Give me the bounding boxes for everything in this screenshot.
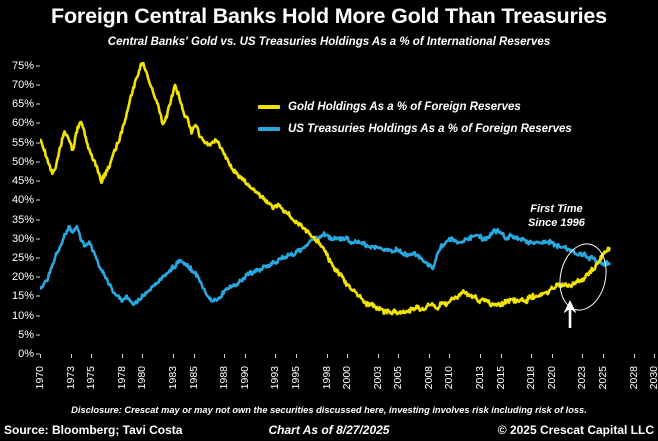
x-axis-tick-mark — [398, 354, 399, 358]
x-axis-tick-mark — [449, 354, 450, 358]
x-axis-tick-label: 2013 — [474, 366, 486, 389]
y-axis-tick-label: 20% — [12, 271, 34, 283]
x-axis-tick-label: 1978 — [116, 366, 128, 389]
y-axis: 0%5%10%15%20%25%30%35%40%45%50%55%60%65%… — [0, 62, 40, 354]
x-axis-tick-label: 1985 — [188, 366, 200, 389]
annotation-text: First Time Since 1996 — [528, 202, 585, 230]
x-axis-tick-label: 1990 — [239, 366, 251, 389]
y-axis-tick-label: 40% — [12, 194, 34, 206]
y-axis-tick-label: 50% — [12, 156, 34, 168]
x-axis-tick-mark — [122, 354, 123, 358]
chart-legend: Gold Holdings As a % of Foreign Reserves… — [258, 96, 618, 140]
copyright-text: © 2025 Crescat Capital LLC — [498, 423, 654, 437]
x-axis-tick-label: 2020 — [546, 366, 558, 389]
treasuries-swatch-icon — [258, 127, 280, 131]
disclosure-text: Disclosure: Crescat may or may not own t… — [0, 405, 658, 415]
chart-container: Foreign Central Banks Hold More Gold Tha… — [0, 0, 658, 441]
x-axis-tick-mark — [194, 354, 195, 358]
y-axis-tick-label: 15% — [12, 290, 34, 302]
y-axis-tick-label: 10% — [12, 310, 34, 322]
x-axis-tick-label: 1998 — [321, 366, 333, 389]
x-axis-tick-label: 2005 — [392, 366, 404, 389]
annotation-line-1: First Time — [528, 202, 585, 216]
x-axis-tick-mark — [603, 354, 604, 358]
x-axis-tick-label: 2015 — [495, 366, 507, 389]
y-axis-tick-label: 70% — [12, 79, 34, 91]
annotation-up-arrow-icon — [562, 300, 578, 328]
x-axis-tick-label: 2028 — [628, 366, 640, 389]
legend-label-gold: Gold Holdings As a % of Foreign Reserves — [288, 101, 521, 113]
y-axis-tick-label: 0% — [18, 348, 34, 360]
x-axis-tick-mark — [224, 354, 225, 358]
chart-subtitle: Central Banks' Gold vs. US Treasuries Ho… — [0, 36, 658, 48]
x-axis-tick-mark — [582, 354, 583, 358]
footer: Source: Bloomberg; Tavi Costa Chart As o… — [0, 423, 658, 441]
x-axis-tick-mark — [71, 354, 72, 358]
x-axis-tick-mark — [634, 354, 635, 358]
x-axis-tick-mark — [429, 354, 430, 358]
x-axis-tick-mark — [480, 354, 481, 358]
x-axis-tick-label: 1988 — [218, 366, 230, 389]
y-axis-tick-label: 5% — [18, 329, 34, 341]
x-axis-tick-label: 2000 — [341, 366, 353, 389]
x-axis-tick-label: 1980 — [136, 366, 148, 389]
x-axis-tick-mark — [245, 354, 246, 358]
annotation-line-2: Since 1996 — [528, 216, 585, 230]
x-axis-tick-mark — [142, 354, 143, 358]
x-axis-tick-label: 1973 — [65, 366, 77, 389]
x-axis-tick-mark — [654, 354, 655, 358]
y-axis-tick-label: 65% — [12, 98, 34, 110]
page-title: Foreign Central Banks Hold More Gold Tha… — [0, 4, 658, 29]
x-axis-tick-label: 2010 — [443, 366, 455, 389]
x-axis-tick-label: 2018 — [525, 366, 537, 389]
y-axis-tick-label: 30% — [12, 233, 34, 245]
x-axis-tick-label: 1970 — [34, 366, 46, 389]
x-axis-tick-mark — [275, 354, 276, 358]
x-axis: 1970197319751978198019831985198819901993… — [40, 354, 654, 400]
y-axis-tick-label: 55% — [12, 137, 34, 149]
y-axis-tick-label: 60% — [12, 117, 34, 129]
legend-item-gold: Gold Holdings As a % of Foreign Reserves — [258, 96, 618, 118]
x-axis-tick-mark — [327, 354, 328, 358]
gold-swatch-icon — [258, 105, 280, 109]
x-axis-tick-label: 2008 — [423, 366, 435, 389]
x-axis-tick-label: 1975 — [85, 366, 97, 389]
x-axis-tick-mark — [531, 354, 532, 358]
x-axis-tick-mark — [173, 354, 174, 358]
x-axis-tick-mark — [40, 354, 41, 358]
legend-item-treasuries: US Treasuries Holdings As a % of Foreign… — [258, 118, 618, 140]
x-axis-tick-label: 2003 — [372, 366, 384, 389]
y-axis-tick-label: 25% — [12, 252, 34, 264]
x-axis-tick-mark — [501, 354, 502, 358]
x-axis-tick-label: 1995 — [290, 366, 302, 389]
x-axis-tick-label: 1983 — [167, 366, 179, 389]
x-axis-tick-label: 1993 — [269, 366, 281, 389]
x-axis-tick-mark — [347, 354, 348, 358]
legend-label-treasuries: US Treasuries Holdings As a % of Foreign… — [288, 123, 572, 135]
x-axis-tick-mark — [552, 354, 553, 358]
x-axis-tick-label: 2023 — [576, 366, 588, 389]
x-axis-tick-label: 2025 — [597, 366, 609, 389]
y-axis-tick-label: 35% — [12, 214, 34, 226]
y-axis-tick-label: 45% — [12, 175, 34, 187]
treasuries-line — [40, 226, 609, 305]
x-axis-tick-mark — [296, 354, 297, 358]
x-axis-tick-mark — [91, 354, 92, 358]
y-axis-tick-label: 75% — [12, 60, 34, 72]
x-axis-tick-mark — [378, 354, 379, 358]
x-axis-tick-label: 2030 — [648, 366, 658, 389]
